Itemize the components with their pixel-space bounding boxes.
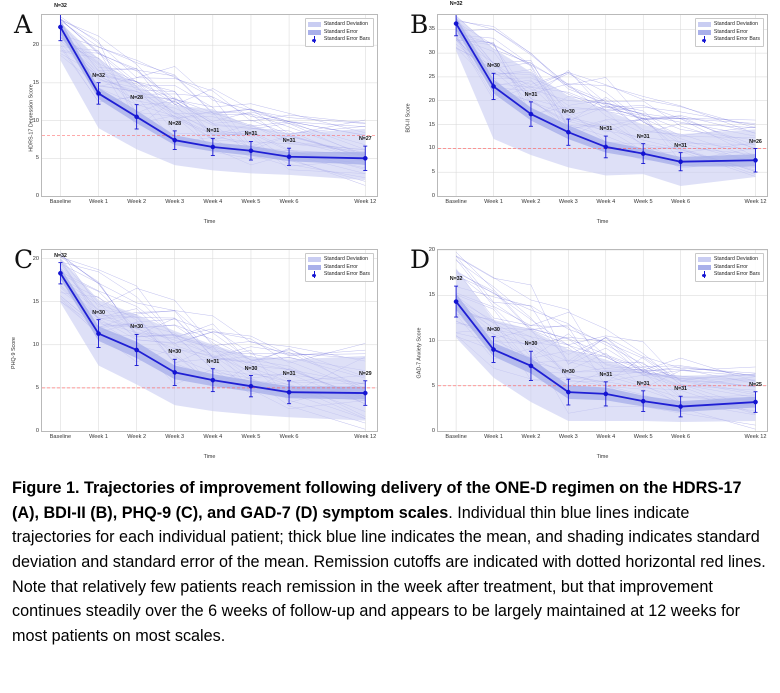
sample-size-label: N=30 [487, 327, 500, 333]
sample-size-label: N=30 [525, 341, 538, 347]
legend-label-se: Standard Error [714, 264, 748, 272]
panel-letter-c: C [14, 247, 33, 272]
legend-item-sd: Standard Deviation [698, 256, 760, 264]
x-tick-label: Week 6 [280, 434, 299, 440]
panel-b-xlabel: Time [437, 219, 768, 225]
x-tick-label: Week 4 [596, 434, 615, 440]
sample-size-label: N=26 [749, 139, 762, 145]
x-tick-label: Week 3 [559, 434, 578, 440]
panel-a-xlabel: Time [41, 219, 378, 225]
panel-d-xlabel: Time [437, 454, 768, 460]
x-tick-label: Baseline [445, 199, 466, 205]
y-tick-label: 20 [429, 98, 435, 104]
sd-swatch-icon [698, 22, 711, 27]
legend-label-sd: Standard Deviation [714, 21, 758, 29]
sample-size-label: N=32 [92, 73, 105, 79]
legend-item-eb: Standard Error Bars [698, 271, 760, 279]
x-tick-label: Week 1 [484, 434, 503, 440]
x-tick-label: Week 12 [744, 199, 766, 205]
x-tick-label: Week 3 [559, 199, 578, 205]
y-tick-label: 5 [432, 169, 435, 175]
panel-b-bdi2: B BDI-II Score Time 05101520253035Baseli… [390, 0, 780, 235]
sd-swatch-icon [308, 257, 321, 262]
sample-size-label: N=28 [168, 121, 181, 127]
x-tick-label: Week 6 [280, 199, 299, 205]
sample-size-label: N=32 [450, 1, 463, 7]
sample-size-label: N=30 [562, 369, 575, 375]
legend-item-se: Standard Error [698, 29, 760, 37]
sample-size-label: N=31 [599, 126, 612, 132]
panel-grid: A HDRS-17 Depression Score Time 05101520… [0, 0, 780, 470]
x-tick-label: Week 1 [89, 434, 108, 440]
chart-legend: Standard DeviationStandard ErrorStandard… [305, 253, 374, 282]
chart-legend: Standard DeviationStandard ErrorStandard… [305, 18, 374, 47]
panel-letter-a: A [14, 12, 32, 37]
sample-size-label: N=31 [207, 359, 220, 365]
x-tick-label: Baseline [445, 434, 466, 440]
panel-c-ylabel: PHQ-9 Score [11, 336, 17, 368]
x-tick-label: Week 1 [89, 199, 108, 205]
sample-size-label: N=31 [283, 371, 296, 377]
legend-label-sd: Standard Deviation [324, 21, 368, 29]
x-tick-label: Week 2 [522, 434, 541, 440]
legend-item-sd: Standard Deviation [308, 21, 370, 29]
sample-size-label: N=30 [92, 310, 105, 316]
x-tick-label: Baseline [50, 199, 71, 205]
y-tick-label: 15 [429, 292, 435, 298]
sample-size-label: N=31 [207, 128, 220, 134]
x-tick-label: Baseline [50, 434, 71, 440]
legend-item-eb: Standard Error Bars [698, 36, 760, 44]
y-tick-label: 10 [33, 118, 39, 124]
x-tick-label: Week 3 [165, 434, 184, 440]
sample-size-label: N=31 [637, 134, 650, 140]
x-tick-label: Week 2 [127, 199, 146, 205]
y-tick-label: 0 [36, 428, 39, 434]
legend-label-sd: Standard Deviation [324, 256, 368, 264]
sample-size-label: N=31 [283, 138, 296, 144]
figure-caption-rest: . Individual thin blue lines indicate tr… [12, 504, 766, 645]
sample-size-label: N=25 [749, 382, 762, 388]
sample-size-label: N=28 [130, 95, 143, 101]
y-tick-label: 15 [429, 122, 435, 128]
legend-item-se: Standard Error [308, 29, 370, 37]
errorbar-marker-icon [698, 271, 711, 278]
legend-label-se: Standard Error [324, 264, 358, 272]
sample-size-label: N=32 [450, 276, 463, 282]
x-tick-label: Week 3 [165, 199, 184, 205]
sample-size-label: N=31 [674, 143, 687, 149]
y-tick-label: 20 [33, 42, 39, 48]
panel-c-xlabel: Time [41, 454, 378, 460]
y-tick-label: 0 [432, 428, 435, 434]
sample-size-label: N=31 [525, 92, 538, 98]
x-tick-label: Week 2 [522, 199, 541, 205]
y-tick-label: 0 [432, 193, 435, 199]
sample-size-label: N=27 [359, 136, 372, 142]
y-tick-label: 20 [33, 256, 39, 262]
y-tick-label: 15 [33, 80, 39, 86]
legend-label-eb: Standard Error Bars [714, 36, 760, 44]
x-tick-label: Week 2 [127, 434, 146, 440]
x-tick-label: Week 5 [242, 434, 261, 440]
y-tick-label: 15 [33, 299, 39, 305]
sd-swatch-icon [698, 257, 711, 262]
panel-b-plot-frame: 05101520253035BaselineWeek 1Week 2Week 3… [437, 14, 768, 197]
y-tick-label: 10 [429, 145, 435, 151]
x-tick-label: Week 4 [203, 199, 222, 205]
y-tick-label: 25 [429, 74, 435, 80]
legend-item-sd: Standard Deviation [308, 256, 370, 264]
errorbar-marker-icon [308, 271, 321, 278]
legend-item-eb: Standard Error Bars [308, 271, 370, 279]
legend-label-se: Standard Error [714, 29, 748, 37]
panel-c-plot-frame: 05101520BaselineWeek 1Week 2Week 3Week 4… [41, 249, 378, 432]
sample-size-label: N=30 [245, 366, 258, 372]
se-swatch-icon [698, 265, 711, 270]
sample-size-label: N=32 [54, 253, 67, 259]
x-tick-label: Week 12 [354, 434, 376, 440]
se-swatch-icon [698, 30, 711, 35]
panel-a-hdrs17: A HDRS-17 Depression Score Time 05101520… [0, 0, 390, 235]
sample-size-label: N=31 [674, 386, 687, 392]
se-swatch-icon [308, 30, 321, 35]
sample-size-label: N=31 [599, 372, 612, 378]
x-tick-label: Week 5 [634, 434, 653, 440]
x-tick-label: Week 5 [242, 199, 261, 205]
y-tick-label: 20 [429, 247, 435, 253]
sample-size-label: N=32 [54, 3, 67, 9]
x-tick-label: Week 1 [484, 199, 503, 205]
panel-d-gad7: D GAD-7 Anxiety Score Time 05101520Basel… [390, 235, 780, 470]
chart-legend: Standard DeviationStandard ErrorStandard… [695, 253, 764, 282]
sample-size-label: N=31 [245, 131, 258, 137]
x-tick-label: Week 12 [354, 199, 376, 205]
x-tick-label: Week 5 [634, 199, 653, 205]
x-tick-label: Week 6 [671, 434, 690, 440]
legend-label-sd: Standard Deviation [714, 256, 758, 264]
panel-d-plot-frame: 05101520BaselineWeek 1Week 2Week 3Week 4… [437, 249, 768, 432]
se-swatch-icon [308, 265, 321, 270]
errorbar-marker-icon [308, 36, 321, 43]
panel-c-phq9: C PHQ-9 Score Time 05101520BaselineWeek … [0, 235, 390, 470]
panel-d-ylabel: GAD-7 Anxiety Score [416, 327, 422, 378]
legend-label-eb: Standard Error Bars [324, 271, 370, 279]
x-tick-label: Week 12 [744, 434, 766, 440]
x-tick-label: Week 6 [671, 199, 690, 205]
y-tick-label: 10 [33, 342, 39, 348]
y-tick-label: 5 [36, 155, 39, 161]
y-tick-label: 5 [432, 383, 435, 389]
errorbar-marker-icon [698, 36, 711, 43]
figure-caption: Figure 1. Trajectories of improvement fo… [12, 476, 768, 648]
legend-label-eb: Standard Error Bars [714, 271, 760, 279]
x-tick-label: Week 4 [596, 199, 615, 205]
y-tick-label: 5 [36, 385, 39, 391]
sample-size-label: N=29 [359, 371, 372, 377]
y-tick-label: 10 [429, 338, 435, 344]
legend-item-sd: Standard Deviation [698, 21, 760, 29]
sample-size-label: N=31 [637, 381, 650, 387]
y-tick-label: 35 [429, 26, 435, 32]
panel-letter-b: B [410, 12, 428, 37]
legend-label-eb: Standard Error Bars [324, 36, 370, 44]
sd-swatch-icon [308, 22, 321, 27]
panel-letter-d: D [410, 247, 430, 272]
y-tick-label: 0 [36, 193, 39, 199]
panel-a-plot-frame: 05101520BaselineWeek 1Week 2Week 3Week 4… [41, 14, 378, 197]
figure-1-root: A HDRS-17 Depression Score Time 05101520… [0, 0, 780, 693]
panel-b-ylabel: BDI-II Score [406, 103, 412, 132]
sample-size-label: N=30 [487, 63, 500, 69]
chart-legend: Standard DeviationStandard ErrorStandard… [695, 18, 764, 47]
legend-item-se: Standard Error [698, 264, 760, 272]
legend-item-se: Standard Error [308, 264, 370, 272]
legend-item-eb: Standard Error Bars [308, 36, 370, 44]
sample-size-label: N=30 [168, 349, 181, 355]
legend-label-se: Standard Error [324, 29, 358, 37]
y-tick-label: 30 [429, 50, 435, 56]
x-tick-label: Week 4 [203, 434, 222, 440]
sample-size-label: N=30 [130, 324, 143, 330]
sample-size-label: N=30 [562, 109, 575, 115]
